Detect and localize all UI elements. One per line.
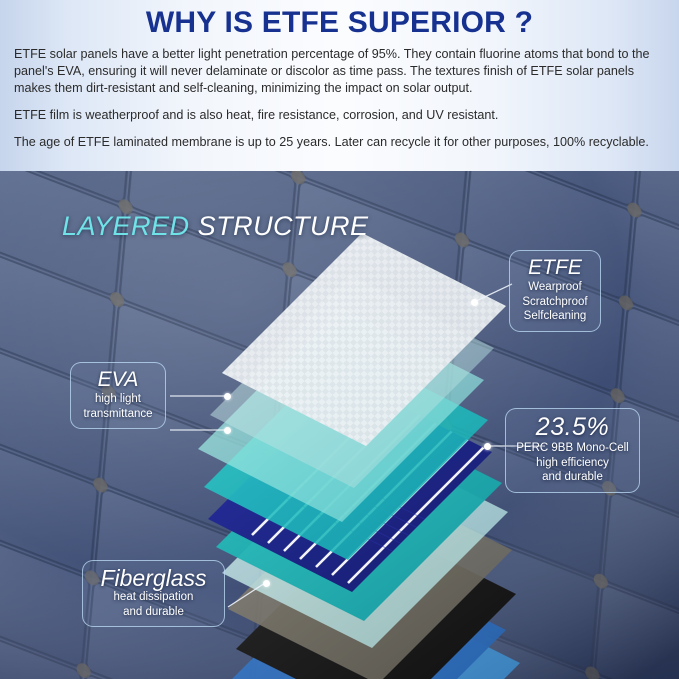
callout-solar-cell[interactable]: 23.5% PERC 9BB Mono-Cell high efficiency… [505, 408, 640, 493]
intro-paragraph-3: The age of ETFE laminated membrane is up… [0, 124, 679, 151]
leader-dot-eva-upper [224, 393, 231, 400]
leader-dot-etfe [471, 299, 478, 306]
callout-fiberglass[interactable]: Fiberglass heat dissipation and durable [82, 560, 225, 627]
callout-etfe-line-3: Selfcleaning [519, 309, 591, 324]
section-heading-word-layered: LAYERED [62, 211, 190, 241]
callout-fiberglass-line-1: heat dissipation [92, 590, 215, 605]
callout-eva[interactable]: EVA high light transmittance [70, 362, 166, 429]
infographic-page: WHY IS ETFE SUPERIOR ? ETFE solar panels… [0, 0, 679, 679]
leader-dot-eva-lower [224, 427, 231, 434]
page-title: WHY IS ETFE SUPERIOR ? [0, 0, 679, 40]
intro-paragraph-1: ETFE solar panels have a better light pe… [0, 40, 679, 97]
callout-eva-title: EVA [80, 368, 156, 392]
callout-cell-efficiency: 23.5% [515, 414, 630, 441]
callout-eva-line-1: high light [80, 392, 156, 407]
callout-etfe[interactable]: ETFE Wearproof Scratchproof Selfcleaning [509, 250, 601, 332]
intro-text-panel: WHY IS ETFE SUPERIOR ? ETFE solar panels… [0, 0, 679, 171]
callout-cell-line-3: and durable [515, 470, 630, 485]
callout-cell-line-2: high efficiency [515, 456, 630, 471]
intro-paragraph-2: ETFE film is weatherproof and is also he… [0, 97, 679, 124]
callout-fiberglass-line-2: and durable [92, 605, 215, 620]
callout-etfe-line-2: Scratchproof [519, 295, 591, 310]
leader-dot-fiberglass [263, 580, 270, 587]
callout-cell-line-1: PERC 9BB Mono-Cell [515, 441, 630, 456]
section-heading-word-structure: STRUCTURE [198, 211, 369, 241]
callout-etfe-line-1: Wearproof [519, 280, 591, 295]
callout-eva-line-2: transmittance [80, 407, 156, 422]
callout-fiberglass-title: Fiberglass [92, 566, 215, 590]
leader-dot-cell [484, 443, 491, 450]
section-heading: LAYERED STRUCTURE [62, 211, 369, 242]
callout-etfe-title: ETFE [519, 256, 591, 280]
